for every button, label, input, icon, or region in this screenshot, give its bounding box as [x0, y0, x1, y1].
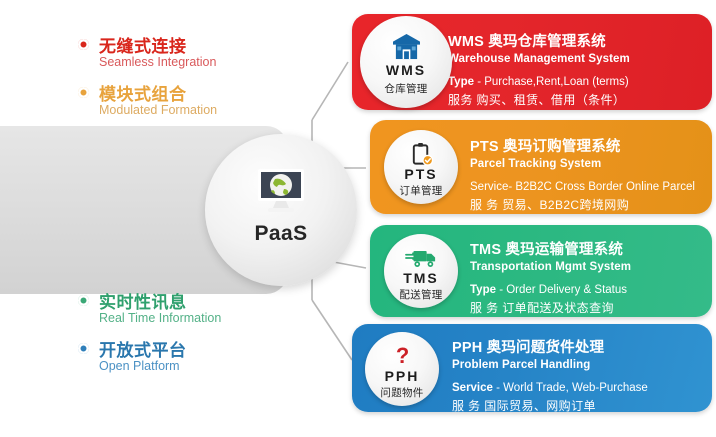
badge-code: PTS	[384, 166, 458, 182]
badge-tms[interactable]: TMS 配送管理	[384, 234, 458, 308]
badge-code: PPH	[365, 368, 439, 384]
card-pph[interactable]: ? PPH 问题物件 PPH 奥玛问题货件处理 Problem Parcel H…	[352, 324, 712, 412]
card-detail-label: Service	[452, 382, 493, 394]
svg-text:?: ?	[395, 344, 408, 368]
card-detail-en: Service- B2B2C Cross Border Online Parce…	[470, 181, 695, 193]
badge-sub: 问题物件	[365, 385, 439, 400]
feature-title-en: Real Time Information	[99, 311, 221, 325]
paas-label: PaaS	[205, 222, 357, 246]
feature-title-en: Open Platform	[99, 359, 180, 373]
badge-pts[interactable]: PTS 订单管理	[384, 130, 458, 204]
card-pts[interactable]: PTS 订单管理 PTS 奥玛订购管理系统 Parcel Tracking Sy…	[370, 120, 712, 214]
card-detail-en: Type - Purchase,Rent,Loan (terms)	[448, 76, 630, 88]
diagram-canvas: PaaS 无缝式连接 Seamless Integration 模块式组合 Mo…	[0, 0, 716, 437]
delivery-truck-icon	[384, 245, 458, 271]
card-title-cn: PPH 奥玛问题货件处理	[452, 336, 648, 357]
feature-title-cn: 无缝式连接	[99, 32, 187, 57]
feature-title-cn: 模块式组合	[99, 80, 187, 105]
card-detail-value: - World Trade, Web-Purchase	[493, 382, 648, 394]
badge-sub: 订单管理	[384, 183, 458, 198]
feature-title-en: Modulated Formation	[99, 103, 217, 117]
card-title-en: Warehouse Management System	[448, 53, 630, 65]
card-pph-text: PPH 奥玛问题货件处理 Problem Parcel Handling Ser…	[452, 336, 648, 414]
card-wms-text: WMS 奥玛仓库管理系统 Warehouse Management System…	[448, 30, 630, 108]
bullet-icon	[78, 87, 89, 98]
card-detail-en: Type - Order Delivery & Status	[470, 284, 631, 296]
card-detail-cn: 服 务 国际贸易、网购订单	[452, 397, 648, 414]
card-detail-value: Service- B2B2C Cross Border Online Parce…	[470, 181, 695, 193]
paas-circle[interactable]: PaaS	[205, 134, 357, 286]
question-mark-icon: ?	[365, 343, 439, 369]
card-detail-label: Type	[470, 284, 496, 296]
badge-code: TMS	[384, 270, 458, 286]
card-title-cn: TMS 奥玛运输管理系统	[470, 238, 631, 259]
card-title-en: Transportation Mgmt System	[470, 261, 631, 273]
card-detail-value: - Purchase,Rent,Loan (terms)	[474, 76, 629, 88]
card-title-en: Problem Parcel Handling	[452, 359, 648, 371]
badge-wms[interactable]: WMS 仓库管理	[360, 16, 452, 108]
feature-title-en: Seamless Integration	[99, 55, 216, 69]
bullet-icon	[78, 295, 89, 306]
card-tms[interactable]: TMS 配送管理 TMS 奥玛运输管理系统 Transportation Mgm…	[370, 225, 712, 317]
card-tms-text: TMS 奥玛运输管理系统 Transportation Mgmt System …	[470, 238, 631, 316]
clipboard-check-icon	[384, 141, 458, 167]
feature-title-cn: 开放式平台	[99, 336, 187, 361]
badge-sub: 配送管理	[384, 287, 458, 302]
feature-title-cn: 实时性讯息	[99, 288, 187, 313]
monitor-globe-icon	[255, 168, 307, 214]
card-pts-text: PTS 奥玛订购管理系统 Parcel Tracking System Serv…	[470, 135, 695, 213]
bullet-icon	[78, 39, 89, 50]
card-detail-value: - Order Delivery & Status	[496, 284, 627, 296]
card-title-cn: WMS 奥玛仓库管理系统	[448, 30, 630, 51]
card-detail-cn: 服务 购买、租赁、借用（条件）	[448, 91, 630, 108]
card-detail-en: Service - World Trade, Web-Purchase	[452, 382, 648, 394]
badge-code: WMS	[360, 62, 452, 78]
card-detail-cn: 服 务 贸易、B2B2C跨境网购	[470, 196, 695, 213]
bullet-icon	[78, 343, 89, 354]
card-title-en: Parcel Tracking System	[470, 158, 695, 170]
badge-pph[interactable]: ? PPH 问题物件	[365, 332, 439, 406]
card-title-cn: PTS 奥玛订购管理系统	[470, 135, 695, 156]
badge-sub: 仓库管理	[360, 81, 452, 96]
card-detail-cn: 服 务 订单配送及状态查询	[470, 299, 631, 316]
warehouse-icon	[360, 31, 452, 61]
